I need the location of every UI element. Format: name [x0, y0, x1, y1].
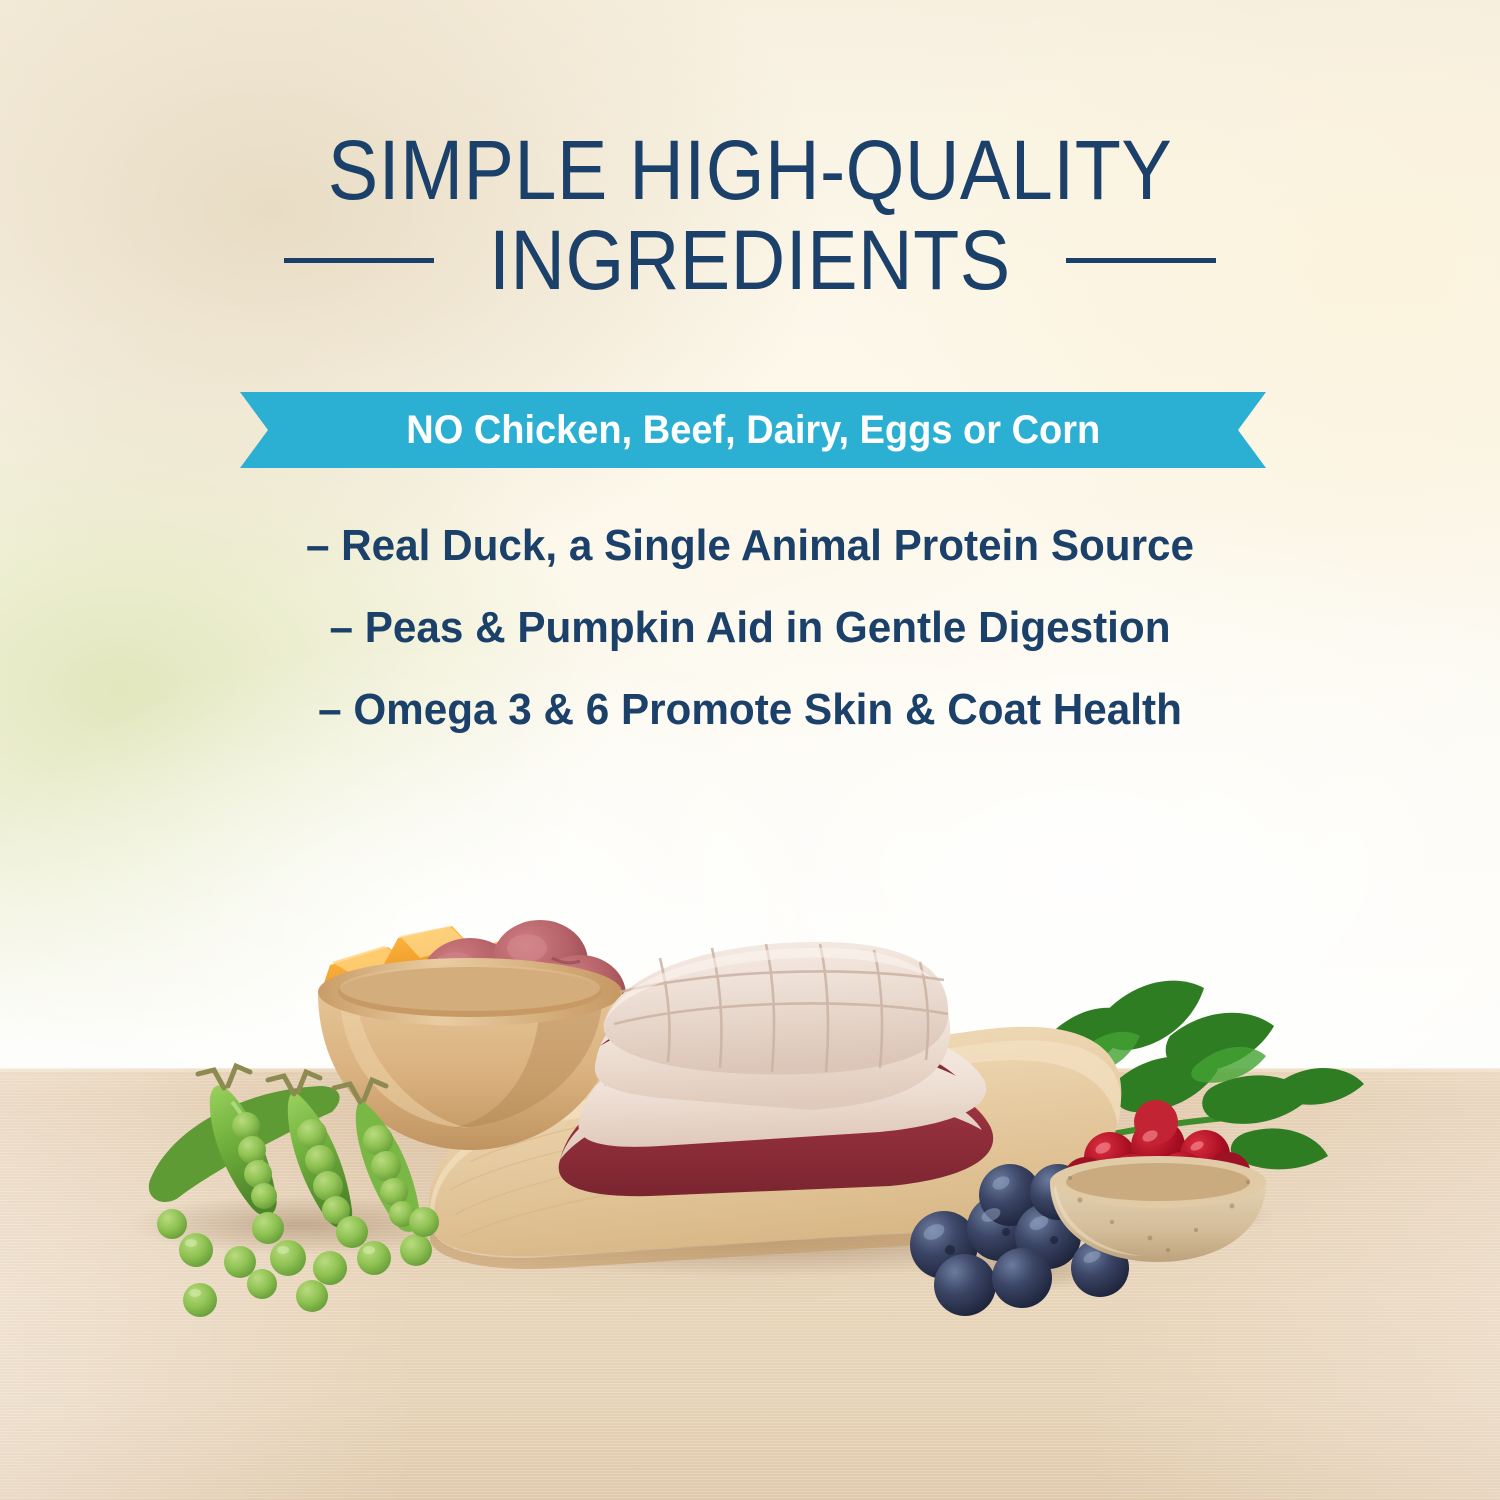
benefit-bullet-list: – Real Duck, a Single Animal Protein Sou…	[0, 524, 1500, 732]
headline-block: SIMPLE HIGH-QUALITY INGREDIENTS	[0, 128, 1500, 305]
wooden-table-surface	[0, 1068, 1500, 1500]
bullet-item-1: – Real Duck, a Single Animal Protein Sou…	[30, 524, 1470, 568]
headline-rule-row: INGREDIENTS	[0, 216, 1500, 305]
table-shading	[0, 1068, 1500, 1500]
bullet-item-3: – Omega 3 & 6 Promote Skin & Coat Health	[30, 688, 1470, 732]
no-ingredients-banner: NO Chicken, Beef, Dairy, Eggs or Corn	[240, 392, 1266, 468]
headline-line-1: SIMPLE HIGH-QUALITY	[75, 128, 1425, 212]
headline-line-2: INGREDIENTS	[489, 216, 1011, 305]
banner-text: NO Chicken, Beef, Dairy, Eggs or Corn	[406, 408, 1100, 453]
headline-rule-right	[1066, 258, 1216, 263]
headline-rule-left	[284, 258, 434, 263]
bullet-item-2: – Peas & Pumpkin Aid in Gentle Digestion	[30, 606, 1470, 650]
